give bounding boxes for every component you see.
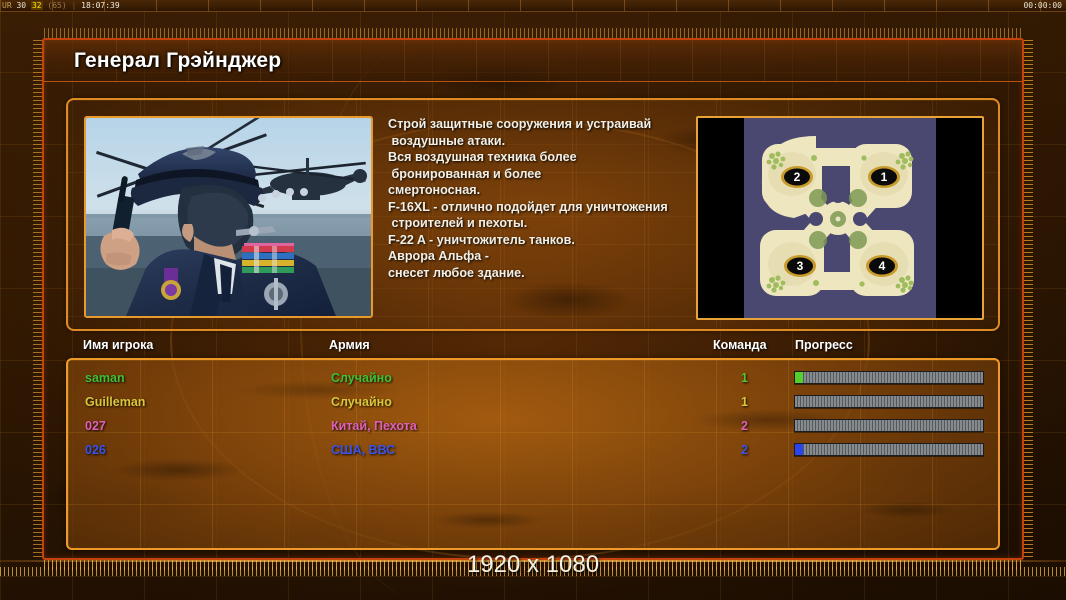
table-row[interactable]: samanСлучайно1 bbox=[68, 366, 998, 390]
player-name: 026 bbox=[85, 438, 106, 462]
start-position-3: 3 bbox=[784, 255, 816, 277]
player-army: США, ВВС bbox=[331, 438, 395, 462]
start-position-label-2: 2 bbox=[794, 170, 801, 184]
player-progress-fill bbox=[795, 444, 803, 455]
general-description: Строй защитные сооружения и устраивай во… bbox=[388, 116, 710, 281]
network-status: UR 30 32 (65) | 18:07:39 bbox=[2, 0, 120, 12]
general-info-panel: Строй защитные сооружения и устраивай во… bbox=[66, 98, 1000, 331]
start-position-2: 2 bbox=[781, 166, 813, 188]
top-status-bar: UR 30 32 (65) | 18:07:39 00:00:00 bbox=[0, 0, 1066, 12]
ribbon-rack bbox=[242, 243, 294, 273]
player-army: Случайно bbox=[331, 390, 392, 414]
page-title: Генерал Грэйнджер bbox=[74, 49, 281, 73]
player-team: 2 bbox=[741, 438, 748, 462]
start-position-label-1: 1 bbox=[881, 170, 888, 184]
frame-ticks-right bbox=[1024, 40, 1033, 558]
frame-ticks-left bbox=[33, 40, 42, 558]
network-separator: | bbox=[72, 1, 77, 10]
player-table-header: Имя игрока Армия Команда Прогресс bbox=[66, 338, 1000, 358]
player-team: 1 bbox=[741, 390, 748, 414]
player-army: Случайно bbox=[331, 366, 392, 390]
player-progress-bar bbox=[794, 443, 984, 456]
resolution-label: 1920 x 1080 bbox=[0, 551, 1066, 579]
column-header-army: Армия bbox=[329, 338, 370, 352]
start-position-label-3: 3 bbox=[797, 259, 804, 273]
map-preview-artwork: 2 1 3 4 bbox=[698, 118, 982, 318]
network-value-2: 32 bbox=[31, 1, 43, 10]
column-header-player-name: Имя игрока bbox=[83, 338, 153, 352]
player-progress-fill bbox=[795, 372, 803, 383]
topbar-tick-marks bbox=[0, 0, 1066, 11]
player-army: Китай, Пехота bbox=[331, 414, 417, 438]
clock-display: 18:07:39 bbox=[81, 1, 120, 10]
network-label: UR bbox=[2, 1, 12, 10]
table-row[interactable]: 026США, ВВС2 bbox=[68, 438, 998, 462]
start-position-1: 1 bbox=[868, 166, 900, 188]
map-preview[interactable]: 2 1 3 4 bbox=[696, 116, 984, 320]
game-screen: UR 30 32 (65) | 18:07:39 00:00:00 Генера… bbox=[0, 0, 1066, 600]
player-rows: samanСлучайно1GuillemanСлучайно1027Китай… bbox=[68, 366, 998, 462]
column-header-team: Команда bbox=[713, 338, 767, 352]
player-table-panel: samanСлучайно1GuillemanСлучайно1027Китай… bbox=[66, 358, 1000, 550]
player-name: saman bbox=[85, 366, 125, 390]
start-position-label-4: 4 bbox=[879, 259, 886, 273]
player-progress-bar bbox=[794, 371, 984, 384]
network-value-1: 30 bbox=[16, 1, 26, 10]
table-row[interactable]: 027Китай, Пехота2 bbox=[68, 414, 998, 438]
column-header-progress: Прогресс bbox=[795, 338, 853, 352]
player-progress-bar bbox=[794, 395, 984, 408]
player-name: 027 bbox=[85, 414, 106, 438]
player-name: Guilleman bbox=[85, 390, 145, 414]
frame-ticks-top bbox=[44, 28, 1022, 38]
title-bar: Генерал Грэйнджер bbox=[44, 40, 1022, 82]
network-value-3: (65) bbox=[47, 1, 66, 10]
portrait-artwork bbox=[86, 118, 371, 316]
general-portrait-photo bbox=[84, 116, 373, 318]
player-team: 2 bbox=[741, 414, 748, 438]
start-position-4: 4 bbox=[866, 255, 898, 277]
player-team: 1 bbox=[741, 366, 748, 390]
game-timer: 00:00:00 bbox=[1023, 0, 1062, 12]
player-progress-bar bbox=[794, 419, 984, 432]
table-row[interactable]: GuillemanСлучайно1 bbox=[68, 390, 998, 414]
